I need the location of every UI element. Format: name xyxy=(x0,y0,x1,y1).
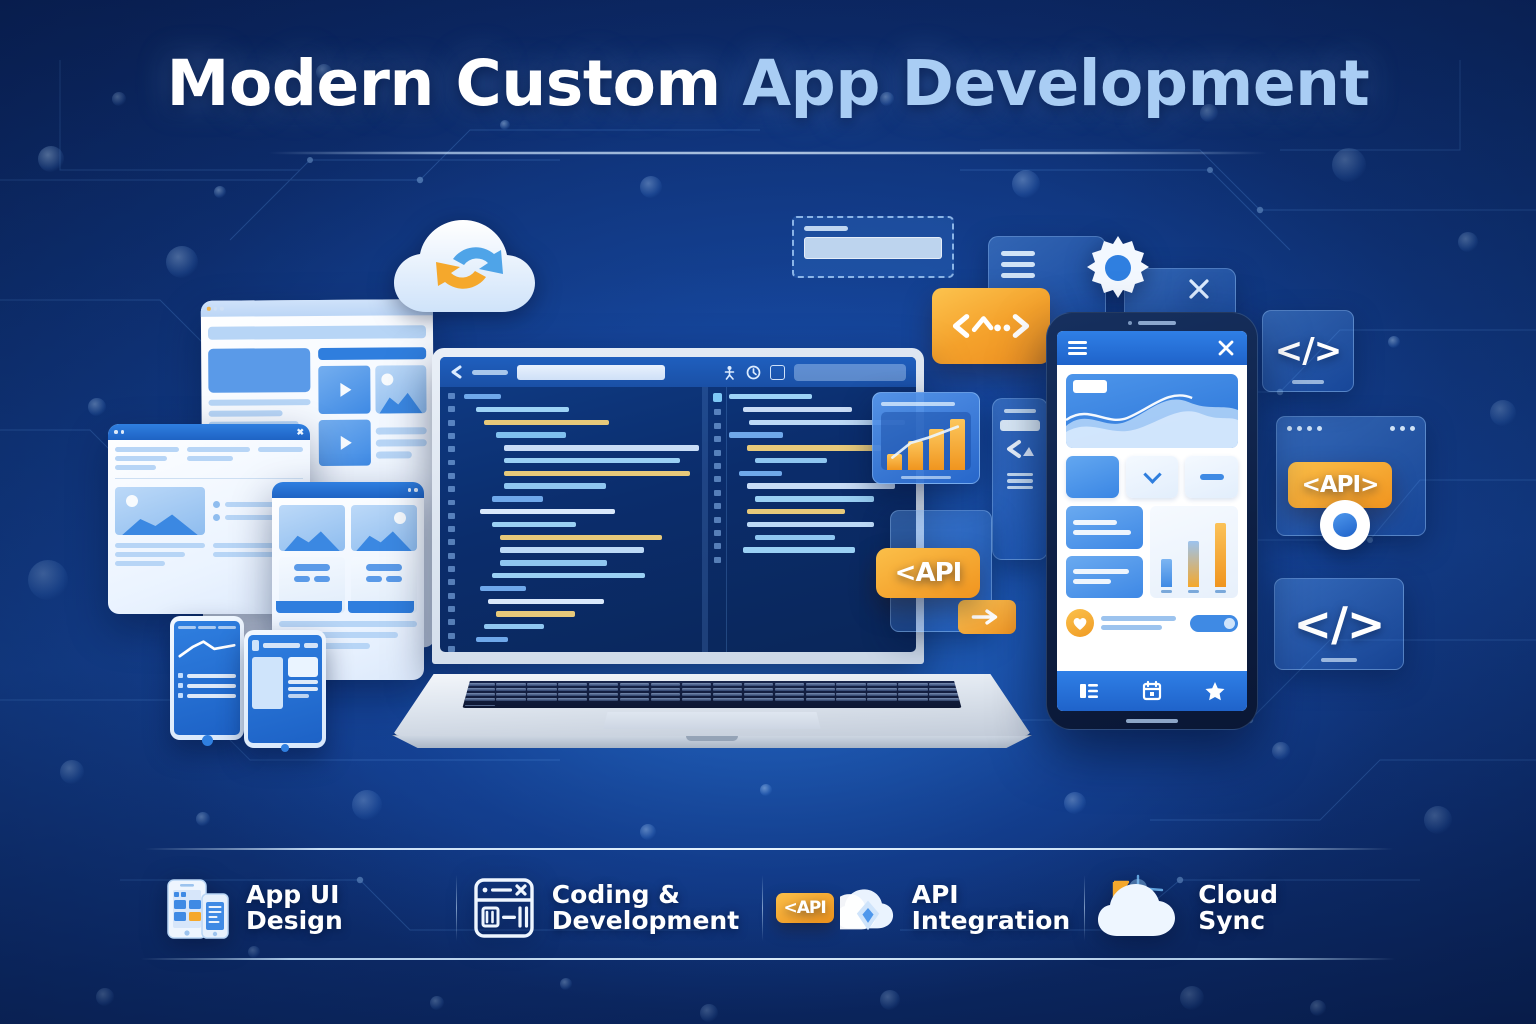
phone-screen-content xyxy=(248,635,322,743)
chevron-down-icon xyxy=(1143,465,1161,483)
debug-icon[interactable] xyxy=(746,365,761,380)
feature-item-api-integration[interactable]: <API API Integration xyxy=(762,866,1085,950)
api-badge-footer-label: <API xyxy=(784,898,826,918)
analytics-chart-card xyxy=(872,392,980,484)
calendar-icon[interactable] xyxy=(1141,680,1163,702)
code-card-lower: </> xyxy=(1274,578,1404,670)
phone-device xyxy=(1046,312,1258,730)
phone-app-body xyxy=(1057,365,1247,671)
phone-app-header xyxy=(1057,331,1247,365)
phone-tile-3[interactable] xyxy=(1185,456,1238,498)
code-card-upper: </> xyxy=(1262,310,1354,392)
send-arrow-chip xyxy=(958,600,1016,634)
line-number-gutter-right xyxy=(708,387,726,652)
gear-icon xyxy=(1082,232,1154,304)
toggle-switch[interactable] xyxy=(1190,615,1238,632)
ide-body xyxy=(440,387,916,652)
code-editor-screen xyxy=(440,357,916,652)
hamburger-menu-icon[interactable] xyxy=(1068,341,1087,355)
star-icon[interactable] xyxy=(1204,680,1226,702)
trend-line-icon xyxy=(887,417,965,469)
ide-path-field[interactable] xyxy=(517,365,665,380)
code-pane-left[interactable] xyxy=(462,387,702,652)
phone-bottom-nav xyxy=(1057,671,1247,711)
mobile-devices-icon xyxy=(164,874,232,942)
phone-hero-chart xyxy=(1066,374,1238,448)
laptop-lid xyxy=(432,348,924,664)
cloud-api-icon: <API xyxy=(776,874,898,942)
feature-label: Coding & Development xyxy=(552,882,739,935)
feature-label: API Integration xyxy=(912,882,1071,935)
play-button-icon xyxy=(319,366,371,414)
title-secondary: App Development xyxy=(742,47,1369,120)
ide-search-field[interactable] xyxy=(794,364,906,381)
phone-bar-chart-card xyxy=(1150,506,1239,598)
phone-screen xyxy=(1057,331,1247,711)
phone-home-indicator xyxy=(1126,719,1178,723)
poster-canvas: Modern Custom App Development xyxy=(0,0,1536,1024)
phone-screen-content xyxy=(174,621,240,735)
feature-label: Cloud Sync xyxy=(1198,882,1278,935)
laptop-keyboard[interactable] xyxy=(462,681,961,708)
list-icon[interactable] xyxy=(1078,681,1100,701)
phone-text-card-2 xyxy=(1066,556,1143,599)
line-chart-icon xyxy=(178,635,236,661)
api-badge: <API xyxy=(876,548,980,598)
laptop-base xyxy=(392,674,1032,736)
cloud-flag-icon xyxy=(1098,874,1184,942)
phone-mockup-small-right xyxy=(244,630,326,748)
page-title: Modern Custom App Development xyxy=(0,52,1536,115)
code-window-icon xyxy=(470,874,538,942)
ide-tool-icons xyxy=(722,364,906,381)
code-wave-icon xyxy=(948,305,1034,347)
phone-tile-row xyxy=(1066,456,1238,498)
build-icon[interactable] xyxy=(770,365,785,380)
api-badge-footer: <API xyxy=(776,893,834,923)
feature-item-app-ui-design[interactable]: App UI Design xyxy=(150,866,456,950)
phone-mockup-small-left xyxy=(170,616,244,740)
cloud-sync-icon xyxy=(382,212,568,320)
phone-toggle-row xyxy=(1066,606,1238,640)
ide-toolbar xyxy=(440,357,916,387)
phone-tile-1[interactable] xyxy=(1066,456,1119,498)
code-glyph-icon: </> xyxy=(1294,597,1385,651)
play-button-icon xyxy=(319,420,371,466)
window-dot-icon xyxy=(207,307,211,311)
window-dot-icon xyxy=(220,307,224,311)
feature-bar-divider-bottom xyxy=(140,958,1396,960)
back-arrow-icon[interactable] xyxy=(450,365,463,379)
window-titlebar: ✖ xyxy=(108,424,310,440)
close-x-icon[interactable] xyxy=(1216,338,1236,358)
title-primary: Modern Custom xyxy=(167,47,721,120)
phone-notch xyxy=(1128,321,1176,325)
title-divider xyxy=(268,152,1268,154)
feature-item-cloud-sync[interactable]: Cloud Sync xyxy=(1084,866,1390,950)
wireframe-dashed-panel xyxy=(792,216,954,278)
window-dot-icon xyxy=(213,307,217,311)
cloud-stack-icon xyxy=(840,882,896,934)
send-arrow-icon xyxy=(970,607,1004,627)
image-thumbnail xyxy=(279,505,345,551)
heart-icon xyxy=(1066,609,1094,637)
close-x-icon[interactable] xyxy=(1186,276,1212,302)
line-number-gutter xyxy=(440,387,462,652)
laptop-hinge xyxy=(392,735,1032,748)
api-badge-label: <API xyxy=(895,558,962,588)
feature-item-coding-development[interactable]: Coding & Development xyxy=(456,866,762,950)
api-badge-right-label: <API> xyxy=(1302,472,1379,498)
phone-text-card-1 xyxy=(1066,506,1143,549)
feature-bar: App UI Design Coding & Development xyxy=(150,862,1390,954)
feature-label: App UI Design xyxy=(246,882,442,935)
feature-bar-divider-top xyxy=(144,848,1394,850)
phone-tile-2[interactable] xyxy=(1126,456,1179,498)
api-endpoint-ring-icon xyxy=(1320,500,1370,550)
laptop-trackpad[interactable] xyxy=(603,712,821,729)
run-icon[interactable] xyxy=(722,365,737,380)
phone-content-row xyxy=(1066,506,1238,598)
code-glyph-icon: </> xyxy=(1275,331,1341,371)
area-chart-icon xyxy=(1066,374,1238,448)
image-thumbnail xyxy=(115,487,205,535)
